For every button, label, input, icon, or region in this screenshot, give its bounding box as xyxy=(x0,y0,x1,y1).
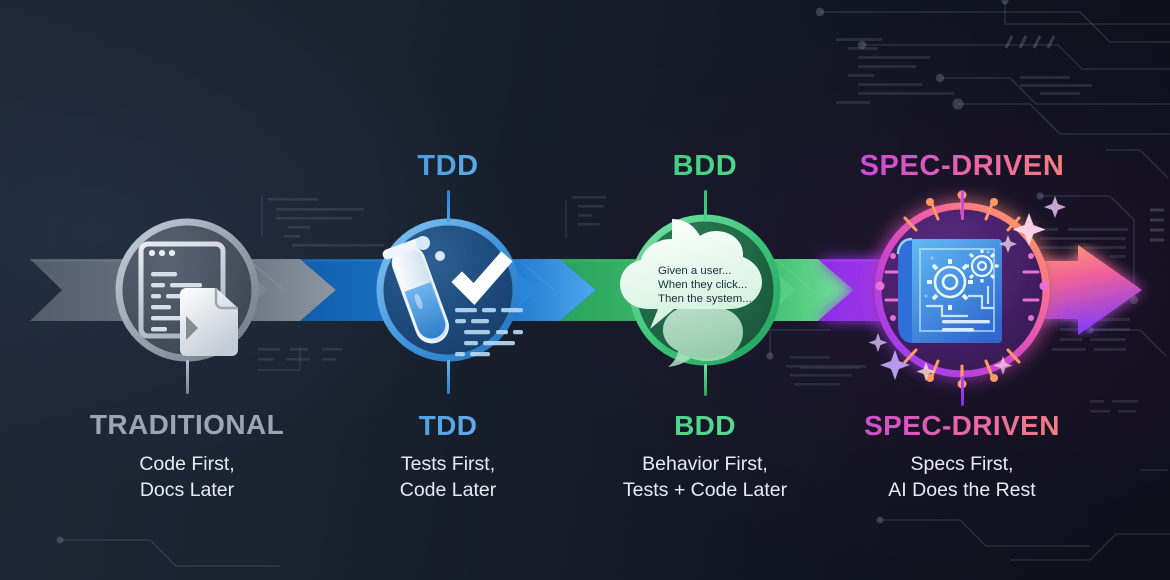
subtitle-line-1: Tests First, xyxy=(401,453,495,475)
subtitle-line-1: Specs First, xyxy=(911,453,1014,475)
connector-stem-traditional xyxy=(186,360,189,394)
connector-stem-bdd-top xyxy=(704,190,707,222)
process-arrow-band xyxy=(0,243,1170,337)
subtitle-line-2: Tests + Code Later xyxy=(623,479,787,501)
infographic-canvas: TRADITIONAL Code First, Docs Later xyxy=(0,0,1170,580)
connector-stem-spec-top xyxy=(961,190,964,220)
stage-label-spec-driven: SPEC-DRIVEN xyxy=(782,410,1142,442)
subtitle-line-2: AI Does the Rest xyxy=(888,479,1035,501)
stage-subtitle-spec-driven: Specs First, AI Does the Rest xyxy=(782,452,1142,504)
connector-stem-spec xyxy=(961,376,964,406)
stage-title-spec-driven: SPEC-DRIVEN xyxy=(782,150,1142,183)
connector-stem-bdd xyxy=(704,364,707,396)
connector-stem-tdd-top xyxy=(447,190,450,222)
connector-stem-tdd xyxy=(447,360,450,394)
subtitle-line-1: Code First, xyxy=(139,453,234,475)
subtitle-line-1: Behavior First, xyxy=(642,453,768,475)
subtitle-line-2: Code Later xyxy=(400,479,496,501)
subtitle-line-2: Docs Later xyxy=(140,479,234,501)
